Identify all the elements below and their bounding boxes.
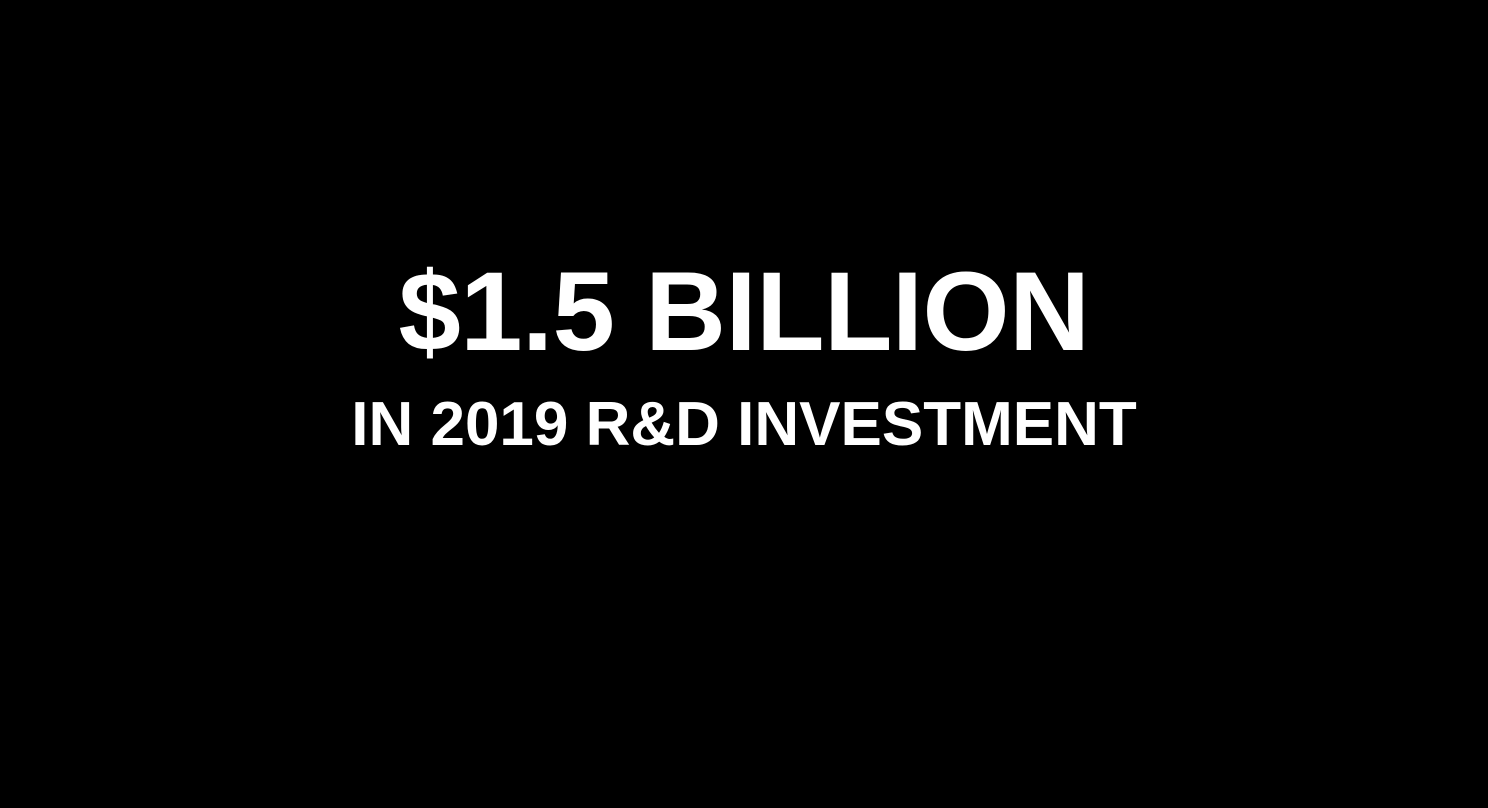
stat-text-block: $1.5 BILLION IN 2019 R&D INVESTMENT bbox=[351, 256, 1137, 456]
stat-callout-slide: $1.5 BILLION IN 2019 R&D INVESTMENT bbox=[0, 0, 1488, 808]
stat-headline-value: $1.5 BILLION bbox=[398, 256, 1089, 368]
stat-subhead-label: IN 2019 R&D INVESTMENT bbox=[351, 394, 1137, 456]
